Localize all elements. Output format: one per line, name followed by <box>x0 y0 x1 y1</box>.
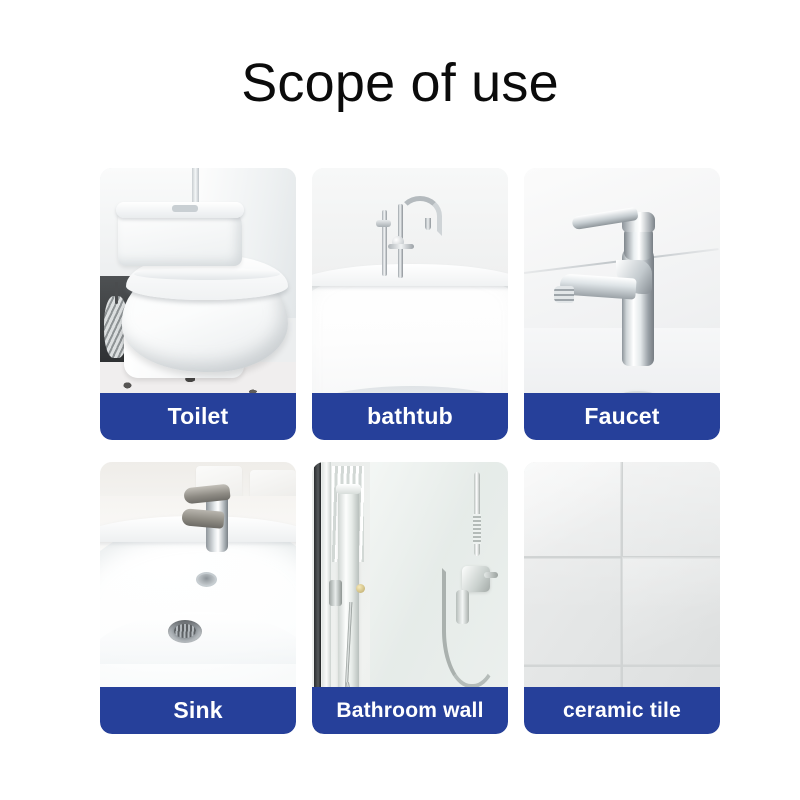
shower-brass-knob-icon <box>356 584 365 593</box>
sink-faucet-spout <box>181 508 224 529</box>
toilet-seat-highlight <box>134 268 280 280</box>
card-bathtub[interactable]: bathtub <box>312 168 508 440</box>
toilet-flush-button-icon <box>172 205 198 212</box>
card-bathroom-wall[interactable]: Bathroom wall <box>312 462 508 734</box>
page-title: Scope of use <box>0 52 800 114</box>
scope-of-use-infographic: Scope of use <box>0 0 800 800</box>
handheld-shower-head-icon <box>456 590 469 624</box>
card-label-faucet: Faucet <box>524 393 720 440</box>
tub-filler-handle <box>388 244 414 249</box>
card-faucet[interactable]: Faucet <box>524 168 720 440</box>
shower-diverter-valve-icon <box>329 580 342 606</box>
card-label-bathroom-wall: Bathroom wall <box>312 687 508 734</box>
card-toilet[interactable]: Toilet <box>100 168 296 440</box>
tile-sheen-mid-right <box>622 557 720 667</box>
card-label-ceramic-tile: ceramic tile <box>524 687 720 734</box>
handheld-shower-holder-icon <box>376 220 391 227</box>
card-label-toilet: Toilet <box>100 393 296 440</box>
card-label-bathtub: bathtub <box>312 393 508 440</box>
tub-filler-gooseneck-icon <box>398 196 442 236</box>
sink-overflow-hole-icon <box>196 572 217 587</box>
shower-column-panel-top <box>336 484 361 494</box>
shower-mixer-handle-icon <box>484 572 498 578</box>
card-ceramic-tile[interactable]: ceramic tile <box>524 462 720 734</box>
sink-drain-grate <box>174 624 196 638</box>
shower-riser-ribbed-hose <box>473 514 481 544</box>
shower-mixer-body <box>462 566 490 592</box>
card-sink[interactable]: Sink <box>100 462 296 734</box>
faucet-aerator-icon <box>554 286 574 303</box>
tub-filler-spout <box>425 218 431 230</box>
tile-sheen-top-left <box>524 462 622 557</box>
use-case-grid: Toilet bathtub <box>100 168 720 734</box>
card-label-sink: Sink <box>100 687 296 734</box>
